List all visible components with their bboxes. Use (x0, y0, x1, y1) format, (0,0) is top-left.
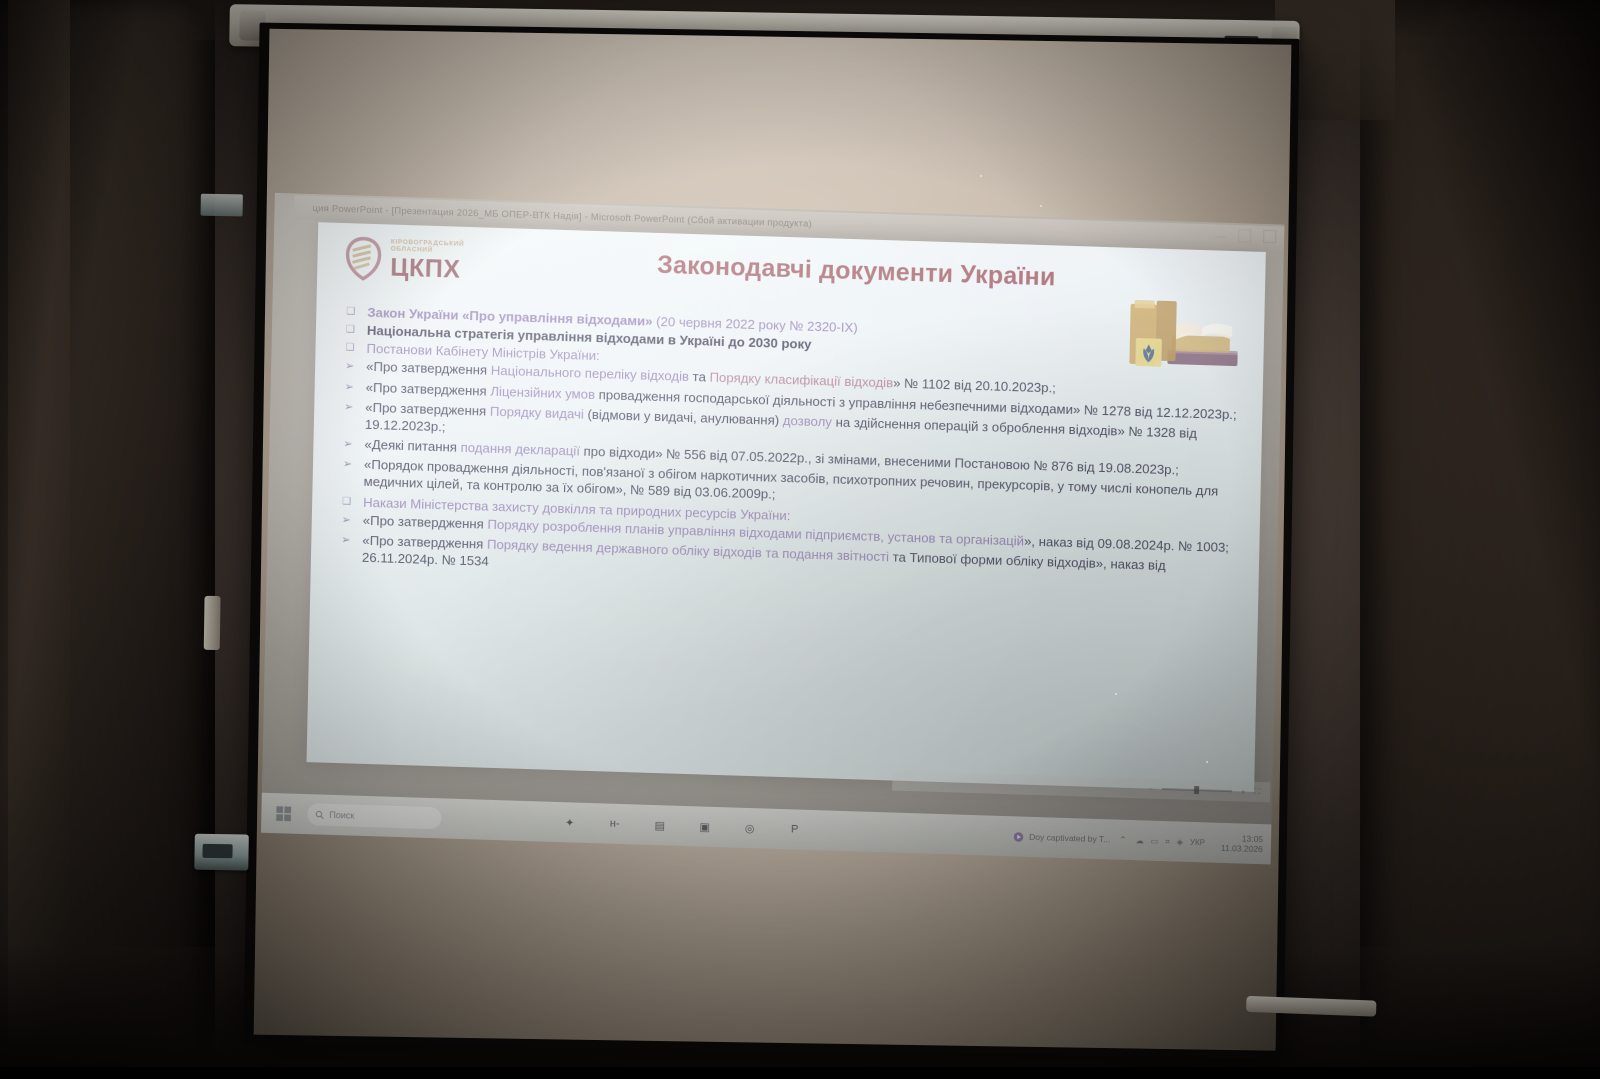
start-button[interactable] (261, 793, 306, 834)
text-run: (відмови у видачі, анулювання) (587, 407, 783, 428)
search-placeholder: Поиск (329, 810, 354, 821)
search-input[interactable]: Поиск (307, 803, 441, 829)
arrow-bullet-icon: ➢ (339, 455, 356, 472)
onedrive-icon[interactable]: ☁ (1136, 836, 1144, 845)
arrow-bullet-icon: ➢ (339, 435, 356, 452)
ms-store-icon[interactable]: н- (604, 813, 625, 835)
windows-start-icon (276, 806, 291, 821)
media-title: Doy captivated by T... (1029, 832, 1110, 845)
text-run: » № 1102 від 20.10.2023р.; (893, 376, 1056, 396)
tray-chevron-up-icon[interactable]: ⌃ (1119, 834, 1127, 845)
text-run: «Про затвердження (366, 359, 491, 378)
taskbar-pinned-apps: ✦н-▤▣◎P (559, 812, 805, 841)
text-run: дозволу (783, 413, 836, 430)
search-icon (315, 810, 324, 819)
text-run: «Про затвердження (366, 379, 491, 398)
screen-side-clip-inner (202, 844, 232, 858)
arrow-bullet-icon: ➢ (337, 531, 354, 548)
room-background: ция PowerPoint - [Презентация 2026_МБ ОП… (0, 0, 1600, 1067)
text-run: Порядку класифікації відходів (709, 370, 893, 391)
screen-side-clip (194, 834, 249, 871)
copilot-icon[interactable]: ✦ (559, 812, 580, 834)
arrow-bullet-icon: ➢ (340, 398, 357, 415)
media-player-icon[interactable]: ▣ (694, 816, 715, 838)
text-run: Ліцензійних умов (490, 383, 599, 401)
projected-desktop: ция PowerPoint - [Презентация 2026_МБ ОП… (261, 193, 1285, 865)
arrow-bullet-icon: ➢ (341, 378, 358, 395)
slide-bullet-list: ❑Закон України «Про управління відходами… (337, 303, 1242, 596)
square-bullet-icon: ❑ (338, 493, 355, 509)
left-wall (0, 0, 215, 1067)
restore-button[interactable] (1238, 229, 1251, 242)
square-bullet-icon: ❑ (342, 303, 359, 319)
screen-side-clip-top (201, 194, 243, 217)
text-run: «Деякі питання (364, 437, 461, 455)
right-wall (1360, 0, 1600, 1067)
text-run: подання декларації (460, 440, 583, 459)
volume-icon[interactable]: ◈ (1177, 837, 1183, 846)
network-icon[interactable]: ⌗ (1165, 837, 1170, 846)
taskbar-clock[interactable]: 13:05 11.03.2026 (1221, 833, 1265, 854)
browser-icon[interactable]: ◎ (739, 817, 760, 839)
zoom-in-button[interactable]: + (1241, 787, 1246, 796)
zoom-slider-knob[interactable] (1194, 786, 1199, 794)
powerpoint-icon[interactable]: P (784, 819, 805, 841)
arrow-bullet-icon: ➢ (341, 357, 358, 374)
system-tray: Doy captivated by T... ⌃ ☁▭⌗◈УКР 13:05 1… (1013, 816, 1266, 864)
text-run: та (692, 370, 709, 386)
text-run: «Про затвердження (362, 533, 487, 552)
clock-date: 11.03.2026 (1221, 843, 1263, 854)
text-run: «Про затвердження (363, 512, 488, 531)
window-controls (1215, 228, 1276, 243)
file-explorer-icon[interactable]: ▤ (649, 814, 670, 836)
media-now-playing[interactable]: Doy captivated by T... (1013, 831, 1110, 845)
tray-icon-group: ☁▭⌗◈УКР (1136, 835, 1213, 848)
battery-icon[interactable]: ▭ (1151, 836, 1159, 845)
square-bullet-icon: ❑ (341, 339, 358, 355)
powerpoint-window: ция PowerPoint - [Презентация 2026_МБ ОП… (282, 195, 1284, 804)
left-wall-panel (8, 0, 70, 1067)
zoom-slider[interactable] (1162, 788, 1232, 792)
minimize-button[interactable] (1215, 228, 1226, 237)
play-circle-icon (1013, 831, 1024, 842)
square-bullet-icon: ❑ (342, 321, 359, 337)
fit-to-window-button[interactable]: ⛶ (1254, 787, 1260, 797)
projector-screen-assembly: ция PowerPoint - [Презентация 2026_МБ ОП… (205, 0, 1342, 1078)
close-button[interactable] (1263, 230, 1276, 243)
screen-mount-bracket (204, 596, 221, 650)
arrow-bullet-icon: ➢ (338, 511, 355, 528)
presentation-slide: КІРОВОГРАДСЬКИЙ ОБЛАСНИЙ ЦКПХ Законодавч… (307, 222, 1266, 792)
text-run: «Про затвердження (365, 400, 490, 419)
language-icon[interactable]: УКР (1190, 837, 1205, 846)
zoom-out-button[interactable]: − (1148, 784, 1153, 793)
text-run: Порядку видачі (490, 403, 588, 421)
